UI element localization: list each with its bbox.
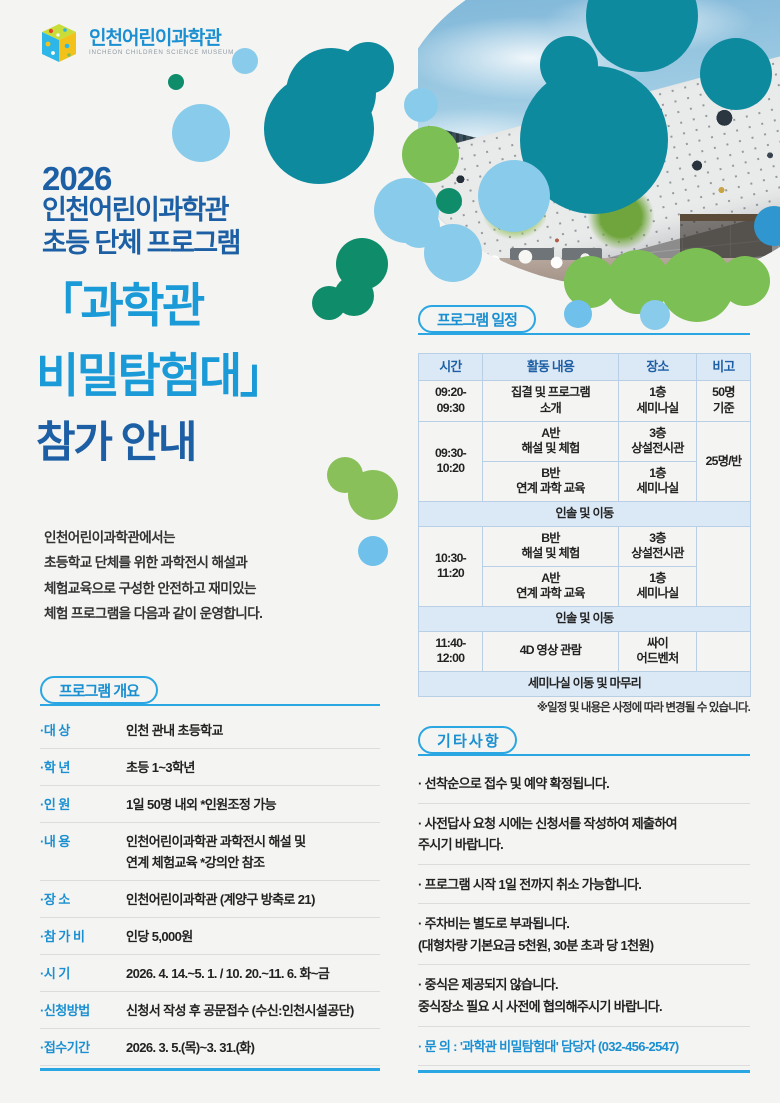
- schedule-column-header: 시간: [419, 354, 483, 381]
- other-info-item: · 프로그램 시작 1일 전까지 취소 가능합니다.: [418, 865, 750, 905]
- blob-green-right-mid4: [720, 256, 770, 306]
- blob-green-center2: [348, 470, 398, 520]
- overview-row-value: 1일 50명 내외 *인원조정 가능: [126, 794, 276, 815]
- hero-title-line2: 비밀탐험대」: [36, 352, 284, 399]
- overview-row: ·접수기간2026. 3. 5.(목)~3. 31.(화): [40, 1029, 380, 1066]
- overview-row: ·내 용인천어린이과학관 과학전시 해설 및연계 체험교육 *강의안 참조: [40, 823, 380, 881]
- schedule-activity-cell: B반연계 과학 교육: [483, 461, 619, 501]
- schedule-time-line: 09:20-: [420, 385, 481, 401]
- blob-lightblue-large: [478, 160, 550, 232]
- hero-subtitle-line1: 인천어린이과학관: [42, 196, 228, 226]
- other-info-title: 기 타 사 항: [418, 726, 517, 754]
- poster-root: 인천어린이과학관 INCHEON CHILDREN SCIENCE MUSEUM…: [0, 0, 780, 1103]
- schedule-time-cell: 09:20-09:30: [419, 381, 483, 421]
- blob-darkgreen-tiny: [168, 74, 184, 90]
- schedule-band-row: 인솔 및 이동: [419, 502, 751, 527]
- overview-row-value-line: 신청서 작성 후 공문접수 (수신:인천시설공단): [126, 1000, 354, 1021]
- overview-row-value-line: 2026. 4. 14.~5. 1. / 10. 20.~11. 6. 화~금: [126, 963, 329, 984]
- overview-row-label: ·시 기: [40, 963, 126, 982]
- schedule-activity-cell: 4D 영상 관람: [483, 631, 619, 671]
- schedule-time-line: 10:20: [420, 461, 481, 477]
- overview-row: ·인 원1일 50명 내외 *인원조정 가능: [40, 786, 380, 823]
- hero-year: 2026: [42, 162, 111, 195]
- program-schedule-table: 시간활동 내용장소비고09:20-09:30집결 및 프로그램소개1층세미나실5…: [418, 353, 751, 697]
- logo-korean-name: 인천어린이과학관: [89, 29, 234, 48]
- schedule-place-line: 세미나실: [620, 586, 695, 602]
- schedule-place-line: 1층: [620, 571, 695, 587]
- schedule-time-line: 11:20: [420, 566, 481, 582]
- intro-line: 체험 프로그램을 다음과 같이 운영합니다.: [44, 601, 374, 626]
- overview-row-value: 2026. 4. 14.~5. 1. / 10. 20.~11. 6. 화~금: [126, 963, 329, 984]
- overview-row-label: ·접수기간: [40, 1037, 126, 1056]
- schedule-place-line: 1층: [620, 385, 695, 401]
- schedule-activity-cell: A반연계 과학 교육: [483, 566, 619, 606]
- schedule-row: 10:30-11:20B반해설 및 체험3층상설전시관: [419, 526, 751, 566]
- schedule-time-cell: 11:40-12:00: [419, 631, 483, 671]
- schedule-place-line: 3층: [620, 426, 695, 442]
- overview-row-label: ·참 가 비: [40, 926, 126, 945]
- schedule-time-cell: 10:30-11:20: [419, 526, 483, 606]
- schedule-place-line: 세미나실: [620, 401, 695, 417]
- intro-paragraph: 인천어린이과학관에서는초등학교 단체를 위한 과학전시 해설과체험교육으로 구성…: [44, 525, 374, 626]
- overview-row-value-line: 1일 50명 내외 *인원조정 가능: [126, 794, 276, 815]
- schedule-time-cell: 09:30-10:20: [419, 421, 483, 501]
- intro-line: 인천어린이과학관에서는: [44, 525, 374, 550]
- schedule-time-line: 09:30-: [420, 446, 481, 462]
- schedule-remark-line: 25명/반: [698, 454, 749, 470]
- schedule-remark-line: 기준: [698, 401, 749, 417]
- schedule-place-line: 세미나실: [620, 481, 695, 497]
- schedule-activity-line: B반: [484, 531, 617, 547]
- schedule-band-label: 인솔 및 이동: [419, 607, 751, 632]
- hero-title-line3: 참가 안내: [36, 422, 195, 465]
- overview-row: ·장 소인천어린이과학관 (계양구 방축로 21): [40, 881, 380, 918]
- schedule-activity-line: 집결 및 프로그램: [484, 385, 617, 401]
- blob-darkgreen-dot: [436, 188, 462, 214]
- overview-row-value-line: 인천어린이과학관 과학전시 해설 및: [126, 831, 305, 852]
- hero-subtitle-line2: 초등 단체 프로그램: [42, 229, 240, 259]
- schedule-place-line: 1층: [620, 466, 695, 482]
- logo-english-name: INCHEON CHILDREN SCIENCE MUSEUM: [89, 50, 234, 56]
- overview-row-value-line: 초등 1~3학년: [126, 757, 195, 778]
- schedule-remark-cell: 25명/반: [697, 421, 751, 501]
- overview-bottom-rule: [40, 1068, 380, 1071]
- schedule-row: 09:30-10:20A반해설 및 체험3층상설전시관25명/반: [419, 421, 751, 461]
- site-logo[interactable]: 인천어린이과학관 INCHEON CHILDREN SCIENCE MUSEUM: [38, 22, 234, 64]
- contact-item[interactable]: · 문 의 : '과학관 비밀탐험대' 담당자 (032-456-2547): [418, 1027, 750, 1067]
- other-info-line: 주시기 바랍니다.: [418, 834, 750, 856]
- overview-row-value: 초등 1~3학년: [126, 757, 195, 778]
- overview-row-value: 2026. 3. 5.(목)~3. 31.(화): [126, 1037, 254, 1058]
- other-info-section: 기 타 사 항: [418, 726, 750, 756]
- schedule-activity-line: 해설 및 체험: [484, 441, 617, 457]
- overview-row: ·참 가 비인당 5,000원: [40, 918, 380, 955]
- overview-row-value: 인당 5,000원: [126, 926, 193, 947]
- schedule-remark-cell: [697, 631, 751, 671]
- hero-title-line1: 「과학관: [36, 282, 203, 329]
- blob-lightblue-medium-left: [172, 104, 230, 162]
- schedule-band-row: 인솔 및 이동: [419, 607, 751, 632]
- program-schedule-section: 프로그램 일정: [418, 305, 750, 335]
- schedule-row: 11:40-12:004D 영상 관람싸이어드벤처: [419, 631, 751, 671]
- schedule-column-header: 비고: [697, 354, 751, 381]
- overview-row: ·시 기2026. 4. 14.~5. 1. / 10. 20.~11. 6. …: [40, 955, 380, 992]
- overview-row: ·대 상인천 관내 초등학교: [40, 712, 380, 749]
- overview-row: ·학 년초등 1~3학년: [40, 749, 380, 786]
- overview-row-label: ·대 상: [40, 720, 126, 739]
- program-schedule-title: 프로그램 일정: [418, 305, 536, 333]
- other-info-line: · 프로그램 시작 1일 전까지 취소 가능합니다.: [418, 874, 750, 896]
- overview-row-value: 인천어린이과학관 과학전시 해설 및연계 체험교육 *강의안 참조: [126, 831, 305, 873]
- overview-row-value-line: 인천 관내 초등학교: [126, 720, 223, 741]
- schedule-place-line: 상설전시관: [620, 441, 695, 457]
- schedule-activity-line: A반: [484, 426, 617, 442]
- schedule-activity-cell: B반해설 및 체험: [483, 526, 619, 566]
- schedule-column-header: 장소: [619, 354, 697, 381]
- other-info-line: · 주차비는 별도로 부과됩니다.: [418, 913, 750, 935]
- other-info-header: 기 타 사 항: [418, 726, 750, 756]
- schedule-remark-line: 50명: [698, 385, 749, 401]
- schedule-activity-line: 연계 과학 교육: [484, 481, 617, 497]
- blob-lightblue-small-logo: [232, 48, 258, 74]
- schedule-place-line: 싸이: [620, 636, 695, 652]
- other-info-item: · 사전답사 요청 시에는 신청서를 작성하여 제출하여 주시기 바랍니다.: [418, 804, 750, 865]
- overview-row-value-line: 인천어린이과학관 (계양구 방축로 21): [126, 889, 315, 910]
- schedule-band-label: 인솔 및 이동: [419, 502, 751, 527]
- overview-row-value-line: 연계 체험교육 *강의안 참조: [126, 852, 305, 873]
- other-info-line: · 선착순으로 접수 및 예약 확정됩니다.: [418, 773, 750, 795]
- overview-row-label: ·내 용: [40, 831, 126, 850]
- schedule-remark-cell: [697, 526, 751, 606]
- schedule-place-line: 3층: [620, 531, 695, 547]
- other-info-line: · 문 의 : '과학관 비밀탐험대' 담당자 (032-456-2547): [418, 1036, 750, 1058]
- overview-row-value: 인천 관내 초등학교: [126, 720, 223, 741]
- intro-line: 초등학교 단체를 위한 과학전시 해설과: [44, 550, 374, 575]
- blob-lightblue-tail: [398, 206, 440, 248]
- schedule-time-line: 09:30: [420, 401, 481, 417]
- other-info-line: · 중식은 제공되지 않습니다.: [418, 974, 750, 996]
- schedule-disclaimer: ※일정 및 내용은 사정에 따라 변경될 수 있습니다.: [418, 699, 750, 715]
- program-overview-rows: ·대 상인천 관내 초등학교·학 년초등 1~3학년·인 원1일 50명 내외 …: [40, 712, 380, 1071]
- overview-row-value: 인천어린이과학관 (계양구 방축로 21): [126, 889, 315, 910]
- schedule-activity-line: 4D 영상 관람: [484, 643, 617, 659]
- other-info-bottom-rule: [418, 1070, 750, 1073]
- schedule-activity-line: A반: [484, 571, 617, 587]
- schedule-column-header: 활동 내용: [483, 354, 619, 381]
- blob-teal-connector: [342, 42, 394, 94]
- schedule-time-line: 12:00: [420, 651, 481, 667]
- blob-darkgreen-pair-c: [312, 286, 346, 320]
- schedule-place-line: 어드벤처: [620, 651, 695, 667]
- other-info-line: 중식장소 필요 시 사전에 협의해주시기 바랍니다.: [418, 996, 750, 1018]
- other-info-item: · 선착순으로 접수 및 예약 확정됩니다.: [418, 764, 750, 804]
- schedule-activity-cell: 집결 및 프로그램소개: [483, 381, 619, 421]
- overview-row-value: 신청서 작성 후 공문접수 (수신:인천시설공단): [126, 1000, 354, 1021]
- schedule-activity-cell: A반해설 및 체험: [483, 421, 619, 461]
- schedule-place-cell: 1층세미나실: [619, 381, 697, 421]
- schedule-place-cell: 싸이어드벤처: [619, 631, 697, 671]
- other-info-item: · 중식은 제공되지 않습니다. 중식장소 필요 시 사전에 협의해주시기 바랍…: [418, 965, 750, 1026]
- program-overview-title: 프로그램 개요: [40, 676, 158, 704]
- schedule-place-cell: 3층상설전시관: [619, 526, 697, 566]
- schedule-row: 09:20-09:30집결 및 프로그램소개1층세미나실50명기준: [419, 381, 751, 421]
- schedule-time-line: 11:40-: [420, 636, 481, 652]
- program-overview-header: 프로그램 개요: [40, 676, 380, 706]
- schedule-activity-line: 연계 과학 교육: [484, 586, 617, 602]
- overview-row-value-line: 2026. 3. 5.(목)~3. 31.(화): [126, 1037, 254, 1058]
- schedule-activity-line: B반: [484, 466, 617, 482]
- overview-row-label: ·장 소: [40, 889, 126, 908]
- overview-row-label: ·인 원: [40, 794, 126, 813]
- program-schedule-header: 프로그램 일정: [418, 305, 750, 335]
- schedule-header-row: 시간활동 내용장소비고: [419, 354, 751, 381]
- schedule-place-cell: 3층상설전시관: [619, 421, 697, 461]
- other-info-item: · 주차비는 별도로 부과됩니다. (대형차량 기본요금 5천원, 30분 초과…: [418, 904, 750, 965]
- blob-green-upper: [402, 126, 459, 183]
- schedule-activity-line: 소개: [484, 401, 617, 417]
- overview-row-value-line: 인당 5,000원: [126, 926, 193, 947]
- schedule-band-row: 세미나실 이동 및 마무리: [419, 671, 751, 696]
- blob-teal-right-edge: [700, 38, 772, 110]
- overview-row-label: ·신청방법: [40, 1000, 126, 1019]
- schedule-activity-line: 해설 및 체험: [484, 546, 617, 562]
- schedule-time-line: 10:30-: [420, 551, 481, 567]
- overview-row-label: ·학 년: [40, 757, 126, 776]
- schedule-remark-cell: 50명기준: [697, 381, 751, 421]
- other-info-list: · 선착순으로 접수 및 예약 확정됩니다.· 사전답사 요청 시에는 신청서를…: [418, 764, 750, 1073]
- cube-logo-icon: [38, 22, 80, 64]
- other-info-line: (대형차량 기본요금 5천원, 30분 초과 당 1천원): [418, 935, 750, 957]
- schedule-place-line: 상설전시관: [620, 546, 695, 562]
- overview-row: ·신청방법신청서 작성 후 공문접수 (수신:인천시설공단): [40, 992, 380, 1029]
- schedule-place-cell: 1층세미나실: [619, 566, 697, 606]
- schedule-band-label: 세미나실 이동 및 마무리: [419, 671, 751, 696]
- other-info-line: · 사전답사 요청 시에는 신청서를 작성하여 제출하여: [418, 813, 750, 835]
- schedule-place-cell: 1층세미나실: [619, 461, 697, 501]
- blob-lightblue-small-top: [404, 88, 438, 122]
- program-overview-section: 프로그램 개요: [40, 676, 380, 706]
- intro-line: 체험교육으로 구성한 안전하고 재미있는: [44, 576, 374, 601]
